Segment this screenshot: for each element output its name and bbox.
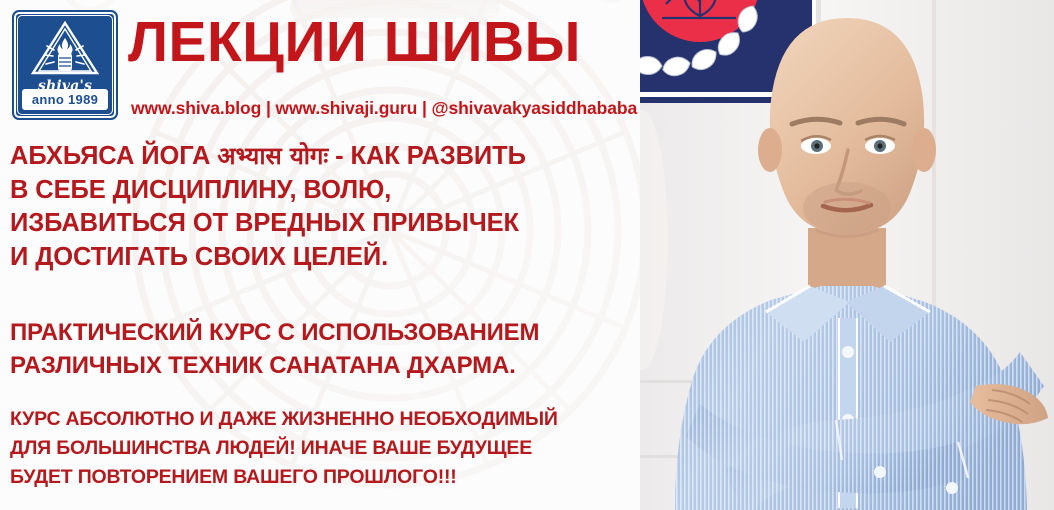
paragraph-1-lead: АБХЬЯСА ЙОГА [10, 142, 217, 170]
website-links[interactable]: www.shiva.blog | www.shivaji.guru | @shi… [131, 98, 637, 119]
devanagari-abhyasa-yoga: अभ्यास योगः [217, 142, 328, 170]
logo-year-text: anno 1989 [32, 92, 98, 107]
bald-man-arms-crossed-photo [640, 0, 1054, 510]
logo-year-bar: anno 1989 [22, 89, 108, 110]
poster-banner: shiva's centre anno 1989 ЛЕКЦИИ ШИВЫ www… [0, 0, 1054, 510]
shivas-centre-logo[interactable]: shiva's centre anno 1989 [12, 10, 118, 120]
left-content-column: shiva's centre anno 1989 ЛЕКЦИИ ШИВЫ www… [0, 0, 648, 510]
page-title: ЛЕКЦИИ ШИВЫ [128, 14, 581, 71]
logo-inner-frame: shiva's centre anno 1989 [17, 15, 113, 115]
shiva-temple-triangle-icon [30, 20, 100, 76]
body-paragraph-2: ПРАКТИЧЕСКИЙ КУРС С ИСПОЛЬЗОВАНИЕМ РАЗЛИ… [10, 316, 539, 382]
body-paragraph-1: АБХЬЯСА ЙОГА अभ्यास योगः - КАК РАЗВИТЬ В… [10, 140, 526, 274]
banner-header: shiva's centre anno 1989 ЛЕКЦИИ ШИВЫ www… [0, 0, 648, 128]
body-paragraph-3: КУРС АБСОЛЮТНО И ДАЖЕ ЖИЗНЕННО НЕОБХОДИМ… [10, 405, 558, 492]
